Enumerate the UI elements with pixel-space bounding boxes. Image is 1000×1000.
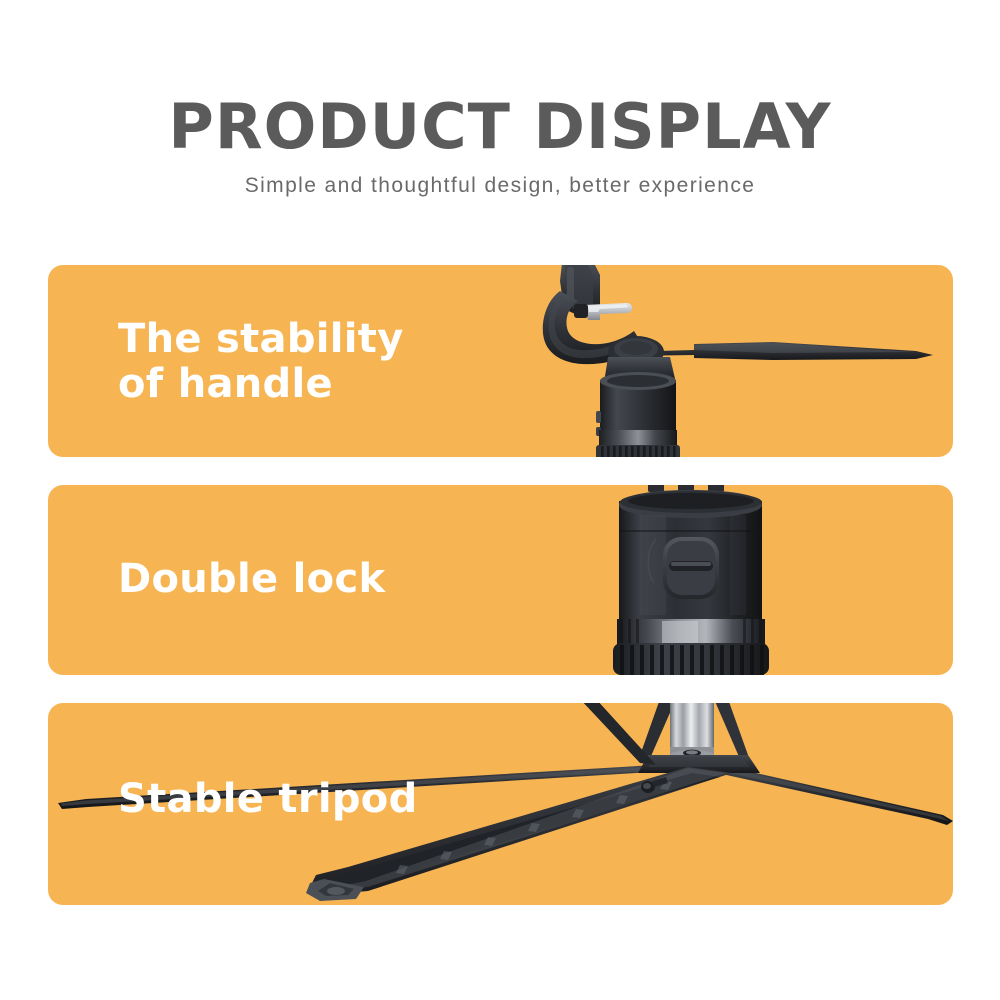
feature-card-stability-of-handle[interactable]: The stability of handle — [48, 265, 953, 457]
tripod-leg-right — [708, 763, 953, 825]
feature-card-stable-tripod[interactable]: Stable tripod — [48, 703, 953, 905]
lock-housing — [619, 490, 762, 620]
rear-struts — [638, 703, 748, 763]
ribbed-grip-ring — [613, 643, 769, 675]
center-pole — [670, 703, 714, 760]
handle-body — [596, 372, 680, 457]
extended-leg — [622, 342, 933, 360]
page-subtitle: Simple and thoughtful design, better exp… — [0, 158, 1000, 198]
tripod-leg-back — [580, 703, 656, 765]
page-header: PRODUCT DISPLAY Simple and thoughtful de… — [0, 0, 1000, 198]
page-title: PRODUCT DISPLAY — [0, 0, 1000, 158]
feature-card-label: The stability of handle — [118, 317, 404, 407]
hinge-bolt — [641, 777, 668, 793]
tripod-hub — [638, 755, 760, 773]
feature-card-label: Stable tripod — [118, 777, 418, 822]
locking-collar — [617, 619, 765, 645]
feature-card-label: Double lock — [118, 557, 385, 602]
feature-card-double-lock[interactable]: Double lock — [48, 485, 953, 675]
gimbal-motor-arm — [543, 265, 676, 383]
top-tabs — [648, 485, 724, 492]
